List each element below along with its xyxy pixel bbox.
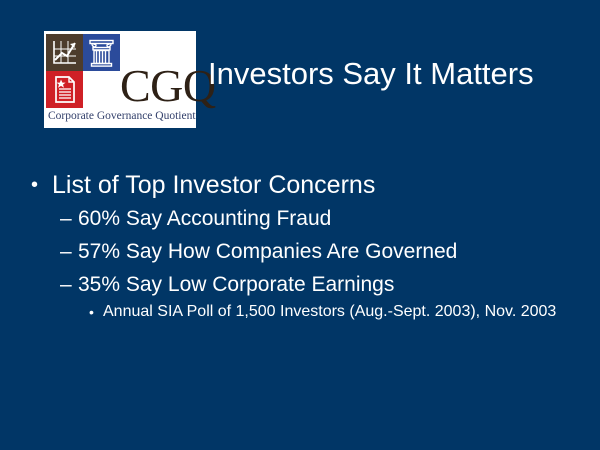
cgq-logo: CGQ Corporate Governance Quotient — [44, 31, 196, 128]
list-item: • List of Top Investor Concerns — [0, 168, 600, 202]
document-icon — [46, 71, 83, 108]
list-item: – 35% Say Low Corporate Earnings — [0, 268, 600, 301]
bullet-marker-icon: • — [89, 301, 94, 323]
page-title: Investors Say It Matters — [208, 55, 592, 93]
logo-icon-grid — [46, 34, 120, 108]
bullet-text: 60% Say Accounting Fraud — [78, 202, 600, 235]
slide-body: • List of Top Investor Concerns – 60% Sa… — [0, 168, 600, 323]
bullet-text: 57% Say How Companies Are Governed — [78, 235, 600, 268]
slide-canvas: CGQ Corporate Governance Quotient Invest… — [0, 0, 600, 450]
logo-tagline: Corporate Governance Quotient — [48, 109, 194, 123]
bullet-text: List of Top Investor Concerns — [52, 168, 600, 202]
bullet-text: Annual SIA Poll of 1,500 Investors (Aug.… — [103, 301, 586, 323]
bullet-text: 35% Say Low Corporate Earnings — [78, 268, 600, 301]
list-item: – 57% Say How Companies Are Governed — [0, 235, 600, 268]
bullet-marker-icon: • — [31, 168, 38, 202]
logo-wordmark: CGQ — [120, 61, 196, 111]
list-item: • Annual SIA Poll of 1,500 Investors (Au… — [0, 301, 600, 323]
bullet-marker-icon: – — [60, 268, 72, 301]
bullet-marker-icon: – — [60, 202, 72, 235]
column-icon — [83, 34, 120, 71]
bullet-marker-icon: – — [60, 235, 72, 268]
chart-icon — [46, 34, 83, 71]
list-item: – 60% Say Accounting Fraud — [0, 202, 600, 235]
blank-quadrant — [83, 71, 120, 108]
slide-header: CGQ Corporate Governance Quotient Invest… — [0, 0, 600, 145]
